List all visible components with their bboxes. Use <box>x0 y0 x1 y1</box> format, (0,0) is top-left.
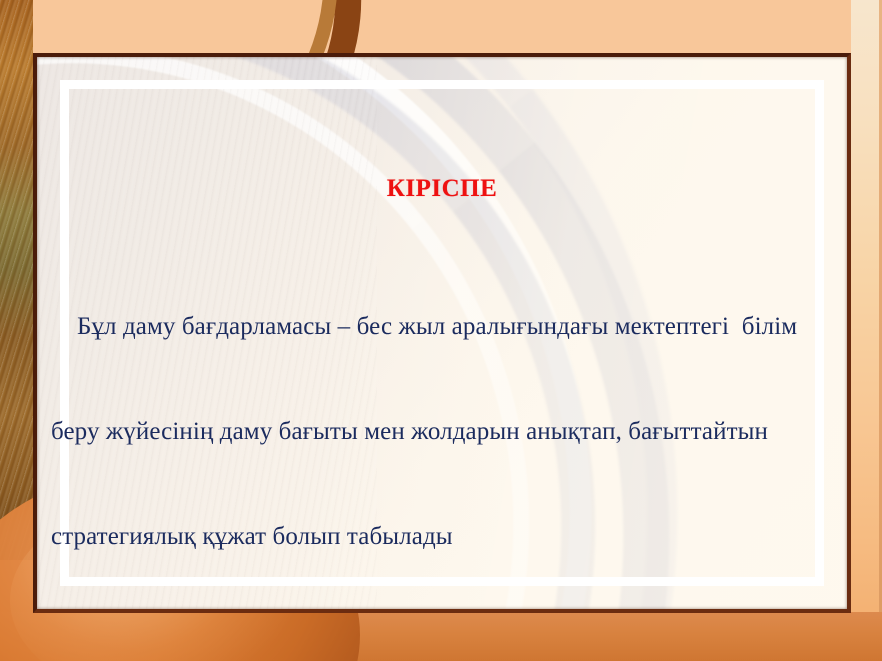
body-line-3: стратегиялық құжат болып табылады <box>51 519 841 554</box>
slide-content-frame: КІРІСПЕ Бұл даму бағдарламасы – бес жыл … <box>33 53 851 613</box>
body-line-1: Бұл даму бағдарламасы – бес жыл аралығын… <box>51 309 841 344</box>
slide-content: КІРІСПЕ Бұл даму бағдарламасы – бес жыл … <box>37 57 847 609</box>
presentation-slide: КІРІСПЕ Бұл даму бағдарламасы – бес жыл … <box>0 0 882 661</box>
body-line-2: беру жүйесінің даму бағыты мен жолдарын … <box>51 414 841 449</box>
background-right-gradient-strip <box>851 0 882 661</box>
slide-body-text: Бұл даму бағдарламасы – бес жыл аралығын… <box>51 239 841 613</box>
page-title: КІРІСПЕ <box>37 175 847 203</box>
